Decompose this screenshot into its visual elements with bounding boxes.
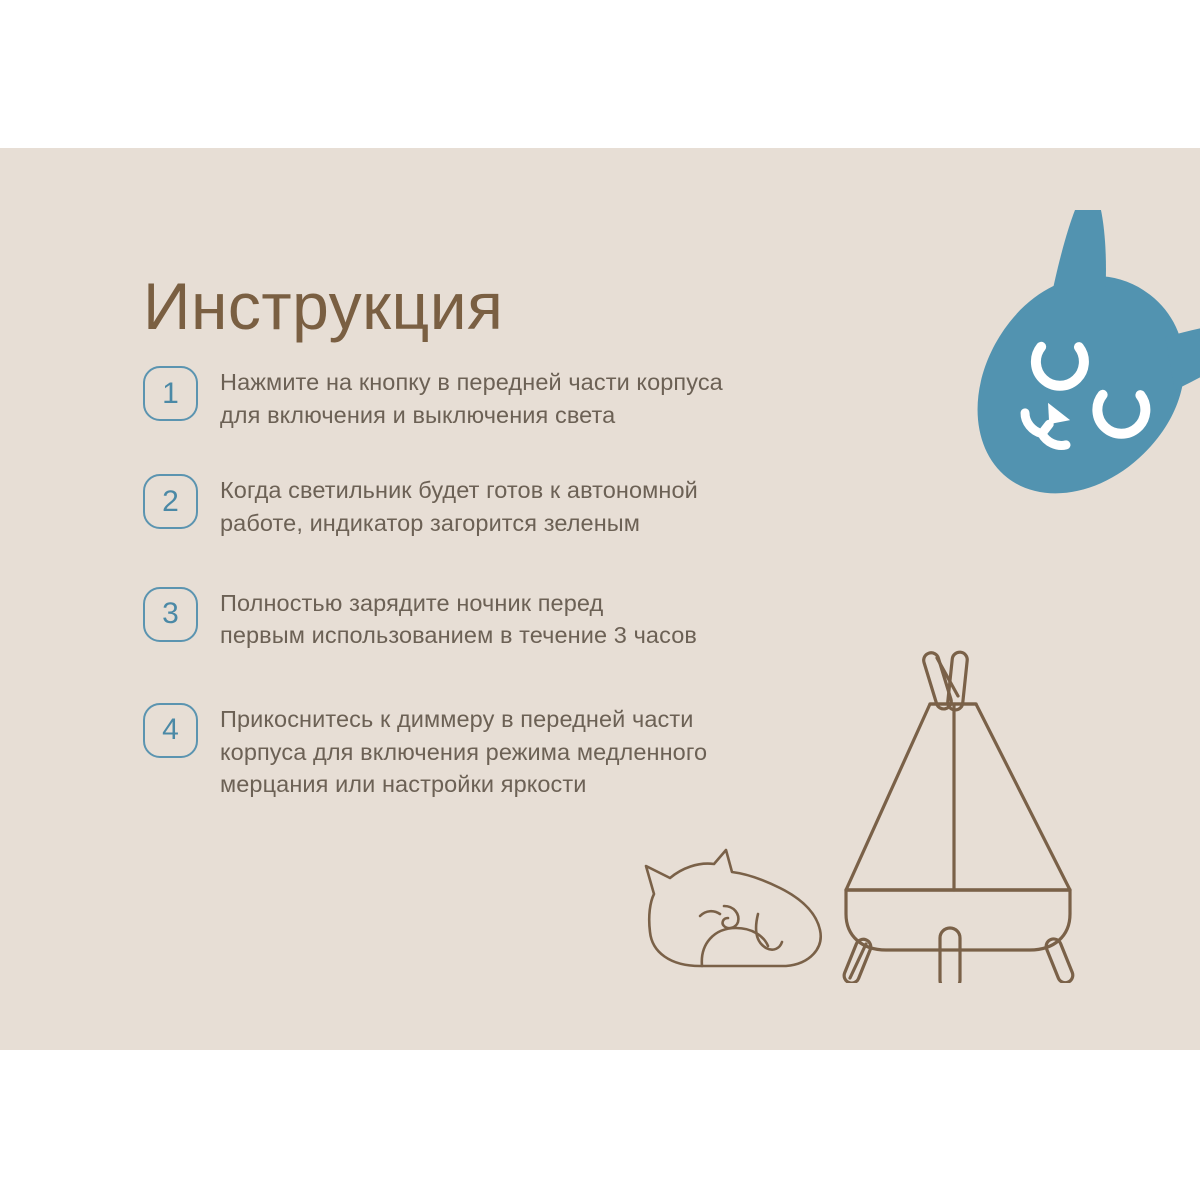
- page-title: Инструкция: [143, 273, 503, 339]
- night-lamp-illustration: [824, 638, 1104, 983]
- step-text-1: Нажмите на кнопку в передней части корпу…: [220, 363, 723, 431]
- step-number-badge-4: 4: [143, 703, 198, 758]
- step-number-badge-3: 3: [143, 587, 198, 642]
- instruction-step-4: 4 Прикоснитесь к диммеру в передней част…: [143, 700, 843, 801]
- step-text-2: Когда светильник будет готов к автономно…: [220, 471, 698, 539]
- step-text-4: Прикоснитесь к диммеру в передней части …: [220, 700, 707, 801]
- step-text-3: Полностью зарядите ночник перед первым и…: [220, 584, 697, 652]
- poster-stage: Инструкция 1 Нажмите на кнопку в передне…: [0, 0, 1200, 1200]
- instruction-step-1: 1 Нажмите на кнопку в передней части кор…: [143, 363, 843, 431]
- blue-cat-head-icon: [922, 210, 1200, 580]
- sleeping-cat-illustration: [640, 848, 840, 983]
- step-number-badge-2: 2: [143, 474, 198, 529]
- sleeping-cat-icon: [640, 848, 840, 983]
- blue-cat-head-illustration: [922, 210, 1200, 580]
- instruction-steps-list: 1 Нажмите на кнопку в передней части кор…: [143, 363, 843, 801]
- poster-canvas: Инструкция 1 Нажмите на кнопку в передне…: [0, 148, 1200, 1050]
- instruction-step-2: 2 Когда светильник будет готов к автоном…: [143, 471, 843, 539]
- instruction-step-3: 3 Полностью зарядите ночник перед первым…: [143, 584, 843, 652]
- step-number-badge-1: 1: [143, 366, 198, 421]
- teepee-night-lamp-icon: [824, 638, 1104, 983]
